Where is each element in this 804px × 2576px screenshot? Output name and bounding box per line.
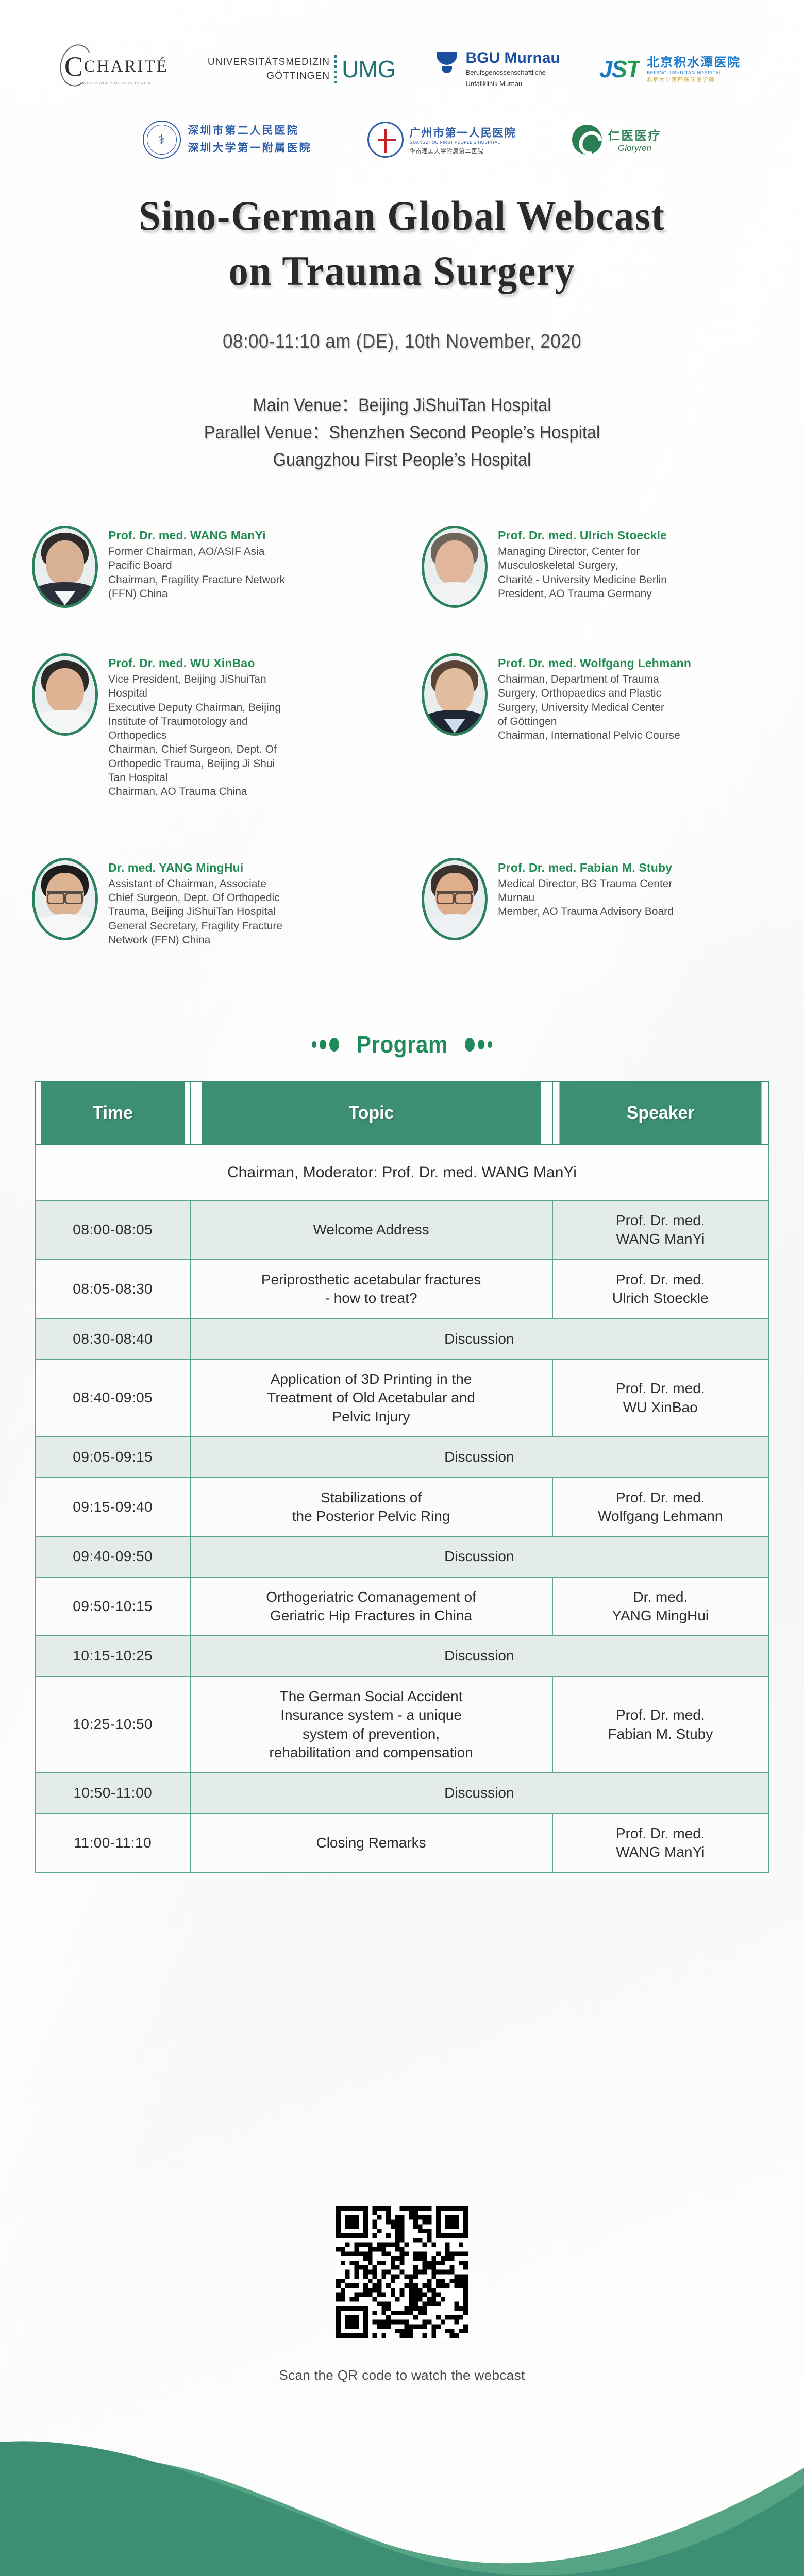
bgu-subtitle-1: Berufsgenossenschaftliche [465, 68, 560, 78]
avatar [422, 858, 488, 940]
umg-line-2: GÖTTINGEN [208, 69, 330, 83]
cell-topic: Discussion [190, 1536, 768, 1577]
speaker-card: Prof. Dr. med. WANG ManYi Former Chairma… [32, 526, 413, 608]
speaker-bio: Chairman, Department of Trauma Surgery, … [498, 672, 691, 742]
qr-code[interactable] [336, 2206, 468, 2338]
cell-topic: Stabilizations of the Posterior Pelvic R… [190, 1478, 552, 1537]
chairman-moderator-cell: Chairman, Moderator: Prof. Dr. med. WANG… [36, 1144, 768, 1200]
gloryren-english-name: Gloryren [608, 143, 662, 154]
bgu-subtitle-2: Unfallklinik Murnau [465, 79, 560, 89]
table-row: 10:50-11:00Discussion [36, 1773, 768, 1813]
table-row: 08:30-08:40Discussion [36, 1319, 768, 1359]
guangzhou-english-name: GUANGZHOU FIRST PEOPLE'S HOSPITAL [410, 140, 516, 145]
cell-time: 11:00-11:10 [36, 1814, 190, 1873]
bgu-murnau-logo: BGU Murnau Berufsgenossenschaftliche Unf… [434, 49, 560, 89]
cell-time: 08:05-08:30 [36, 1260, 190, 1319]
umg-logo: UNIVERSITÄTSMEDIZIN GÖTTINGEN UMG [208, 55, 396, 83]
event-datetime: 08:00-11:10 am (DE), 10th November, 2020 [32, 331, 772, 353]
guangzhou-first-peoples-hospital-logo: 广州市第一人民医院 GUANGZHOU FIRST PEOPLE'S HOSPI… [367, 122, 516, 158]
speaker-card: Prof. Dr. med. Ulrich Stoeckle Managing … [422, 526, 803, 608]
logo-row-primary: C CHARITÉ UNIVERSITÄTSMEDIZIN BERLIN UNI… [0, 49, 804, 89]
title-line-2: on Trauma Surgery [28, 244, 776, 299]
table-header-row: Time Topic Speaker [36, 1081, 768, 1144]
speaker-name: Dr. med. YANG MingHui [108, 861, 282, 875]
cell-time: 09:15-09:40 [36, 1478, 190, 1537]
umg-dots-icon [334, 55, 337, 83]
gloryren-swirl-icon [572, 125, 602, 155]
speaker-name: Prof. Dr. med. Fabian M. Stuby [498, 861, 674, 875]
cell-topic: Orthogeriatric Comanagement of Geriatric… [190, 1577, 552, 1636]
avatar [422, 653, 488, 736]
cell-time: 09:50-10:15 [36, 1577, 190, 1636]
cell-time: 10:15-10:25 [36, 1636, 190, 1676]
shenzhen-second-peoples-hospital-logo: ⚕ 深圳市第二人民医院 深圳大学第一附属医院 [143, 121, 312, 159]
speaker-row: Prof. Dr. med. WANG ManYi Former Chairma… [0, 526, 804, 608]
cell-speaker: Prof. Dr. med. WANG ManYi [552, 1200, 768, 1260]
cell-topic: Application of 3D Printing in the Treatm… [190, 1359, 552, 1437]
shenzhen-chinese-name-2: 深圳大学第一附属医院 [188, 140, 312, 157]
umg-line-1: UNIVERSITÄTSMEDIZIN [208, 55, 330, 70]
cell-topic: The German Social Accident Insurance sys… [190, 1676, 552, 1773]
table-row: 09:15-09:40Stabilizations of the Posteri… [36, 1478, 768, 1537]
speaker-card: Prof. Dr. med. Wolfgang Lehmann Chairman… [422, 653, 803, 799]
avatar [422, 526, 488, 608]
venue-parallel: Parallel Venue：Shenzhen Second People’s … [28, 419, 776, 446]
table-row: 11:00-11:10Closing RemarksProf. Dr. med.… [36, 1814, 768, 1873]
speaker-list: Prof. Dr. med. WANG ManYi Former Chairma… [0, 526, 804, 947]
cell-speaker: Prof. Dr. med. WANG ManYi [552, 1814, 768, 1873]
cell-time: 08:00-08:05 [36, 1200, 190, 1260]
speaker-row: Dr. med. YANG MingHui Assistant of Chair… [0, 858, 804, 947]
column-header-time: Time [40, 1081, 186, 1144]
cell-speaker: Prof. Dr. med. Wolfgang Lehmann [552, 1478, 768, 1537]
venue-parallel-2: Guangzhou First People’s Hospital [28, 446, 776, 473]
cell-speaker: Prof. Dr. med. WU XinBao [552, 1359, 768, 1437]
avatar [32, 858, 98, 940]
shenzhen-chinese-name-1: 深圳市第二人民医院 [188, 122, 312, 140]
speaker-name: Prof. Dr. med. Ulrich Stoeckle [498, 529, 667, 543]
speaker-card: Prof. Dr. med. WU XinBao Vice President,… [32, 653, 413, 799]
speaker-card: Prof. Dr. med. Fabian M. Stuby Medical D… [422, 858, 803, 947]
speaker-name: Prof. Dr. med. Wolfgang Lehmann [498, 656, 691, 670]
table-row: 08:40-09:05Application of 3D Printing in… [36, 1359, 768, 1437]
cell-topic: Periprosthetic acetabular fractures - ho… [190, 1260, 552, 1319]
guangzhou-chinese-subtitle: 华南理工大学附属第二医院 [410, 147, 516, 155]
table-row-chairman: Chairman, Moderator: Prof. Dr. med. WANG… [36, 1144, 768, 1200]
cell-time: 09:40-09:50 [36, 1536, 190, 1577]
speaker-bio: Managing Director, Center for Musculoske… [498, 545, 667, 601]
cell-topic: Welcome Address [190, 1200, 552, 1260]
charite-wordmark: CHARITÉ [84, 57, 169, 76]
venue-block: Main Venue：Beijing JiShuiTan Hospital Pa… [28, 392, 776, 474]
jst-monogram-icon: JST [599, 55, 640, 83]
qr-caption: Scan the QR code to watch the webcast [0, 2367, 804, 2383]
speaker-name: Prof. Dr. med. WU XinBao [108, 656, 281, 670]
column-header-speaker: Speaker [559, 1081, 762, 1144]
table-row: 08:00-08:05Welcome AddressProf. Dr. med.… [36, 1200, 768, 1260]
gloryren-chinese-name: 仁医医疗 [608, 126, 662, 143]
cell-topic: Discussion [190, 1773, 768, 1813]
guangzhou-chinese-name: 广州市第一人民医院 [410, 125, 516, 140]
cell-time: 10:50-11:00 [36, 1773, 190, 1813]
jst-chinese-subtitle: 北京大学第四临床医学院 [647, 75, 741, 83]
cell-time: 08:30-08:40 [36, 1319, 190, 1359]
speaker-bio: Former Chairman, AO/ASIF Asia Pacific Bo… [108, 545, 285, 601]
guangzhou-seal-icon [367, 122, 404, 158]
table-row: 08:05-08:30Periprosthetic acetabular fra… [36, 1260, 768, 1319]
charite-logo: C CHARITÉ UNIVERSITÄTSMEDIZIN BERLIN [63, 53, 169, 86]
venue-main: Main Venue：Beijing JiShuiTan Hospital [28, 392, 776, 419]
cell-topic: Discussion [190, 1319, 768, 1359]
speaker-row: Prof. Dr. med. WU XinBao Vice President,… [0, 653, 804, 799]
table-row: 10:25-10:50The German Social Accident In… [36, 1676, 768, 1773]
avatar [32, 526, 98, 608]
program-table: Time Topic Speaker Chairman, Moderator: … [35, 1081, 769, 1873]
shenzhen-seal-icon: ⚕ [143, 121, 181, 159]
table-body: Chairman, Moderator: Prof. Dr. med. WANG… [36, 1144, 768, 1873]
speaker-bio: Medical Director, BG Trauma Center Murna… [498, 877, 674, 919]
avatar [32, 653, 98, 736]
jst-english-name: BEIJING JISHUITAN HOSPITAL [647, 70, 741, 75]
cell-topic: Discussion [190, 1437, 768, 1477]
page-title: Sino-German Global Webcast on Trauma Sur… [0, 189, 804, 298]
column-header-topic: Topic [201, 1081, 542, 1144]
program-title: Program [356, 1030, 447, 1058]
speaker-bio: Vice President, Beijing JiShuiTan Hospit… [108, 672, 281, 799]
cell-speaker: Dr. med. YANG MingHui [552, 1577, 768, 1636]
table-row: 09:50-10:15Orthogeriatric Comanagement o… [36, 1577, 768, 1636]
jst-logo: JST 北京积水潭医院 BEIJING JISHUITAN HOSPITAL 北… [599, 55, 741, 83]
logo-row-secondary: ⚕ 深圳市第二人民医院 深圳大学第一附属医院 广州市第一人民医院 GUANGZH… [0, 121, 804, 159]
table-row: 09:40-09:50Discussion [36, 1536, 768, 1577]
program-heading: Program [0, 1030, 804, 1058]
cell-speaker: Prof. Dr. med. Fabian M. Stuby [552, 1676, 768, 1773]
umg-abbreviation: UMG [342, 57, 395, 81]
cell-topic: Closing Remarks [190, 1814, 552, 1873]
table-row: 10:15-10:25Discussion [36, 1636, 768, 1676]
gloryren-logo: 仁医医疗 Gloryren [572, 125, 662, 155]
bgu-name: BGU Murnau [465, 49, 560, 66]
cell-topic: Discussion [190, 1636, 768, 1676]
cell-time: 09:05-09:15 [36, 1437, 190, 1477]
title-line-1: Sino-German Global Webcast [28, 189, 776, 244]
footer-wave-decoration [0, 2406, 804, 2576]
speaker-bio: Assistant of Chairman, Associate Chief S… [108, 877, 282, 947]
cell-time: 08:40-09:05 [36, 1359, 190, 1437]
speaker-name: Prof. Dr. med. WANG ManYi [108, 529, 285, 543]
ornament-dots-left [310, 1038, 341, 1052]
cell-time: 10:25-10:50 [36, 1676, 190, 1773]
ornament-dots-right [463, 1038, 494, 1052]
cell-speaker: Prof. Dr. med. Ulrich Stoeckle [552, 1260, 768, 1319]
bgu-shield-icon [434, 50, 459, 75]
speaker-card: Dr. med. YANG MingHui Assistant of Chair… [32, 858, 413, 947]
jst-chinese-name: 北京积水潭医院 [647, 56, 741, 70]
table-row: 09:05-09:15Discussion [36, 1437, 768, 1477]
